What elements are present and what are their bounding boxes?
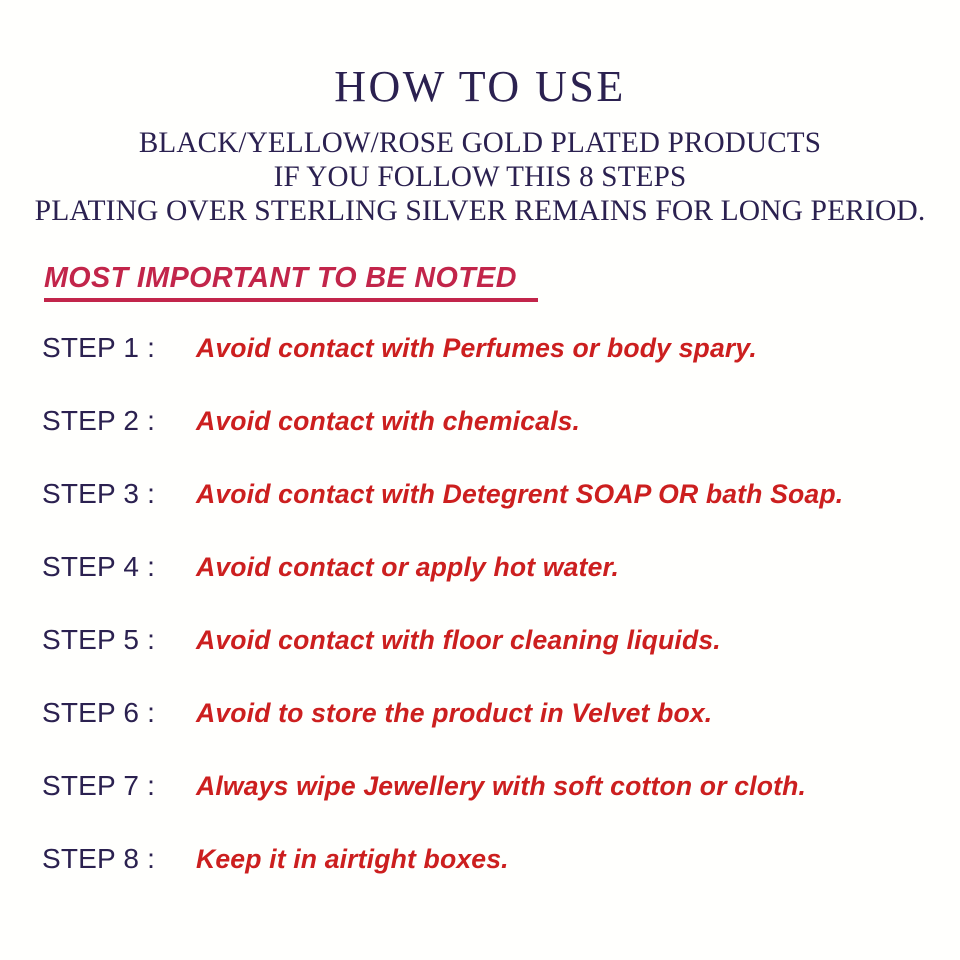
step-label: STEP 5 : [42, 622, 196, 658]
list-item: STEP 7 :Always wipe Jewellery with soft … [0, 768, 960, 841]
important-notice-heading: MOST IMPORTANT TO BE NOTED [44, 263, 604, 302]
important-notice-label: MOST IMPORTANT TO BE NOTED [44, 263, 517, 294]
step-label: STEP 6 : [42, 695, 196, 731]
step-label: STEP 7 : [42, 768, 196, 804]
step-label: STEP 1 : [42, 330, 196, 366]
step-instruction: Keep it in airtight boxes. [196, 841, 509, 877]
step-label: STEP 8 : [42, 841, 196, 877]
list-item: STEP 3 :Avoid contact with Detegrent SOA… [0, 476, 960, 549]
care-instructions-poster: HOW TO USE BLACK/YELLOW/ROSE GOLD PLATED… [0, 0, 960, 960]
subtitle-block: BLACK/YELLOW/ROSE GOLD PLATED PRODUCTS I… [0, 126, 960, 228]
subtitle-line-2: IF YOU FOLLOW THIS 8 STEPS [14, 160, 945, 194]
steps-list: STEP 1 :Avoid contact with Perfumes or b… [0, 330, 960, 914]
list-item: STEP 5 :Avoid contact with floor cleanin… [0, 622, 960, 695]
subtitle-line-3: PLATING OVER STERLING SILVER REMAINS FOR… [7, 194, 953, 228]
step-instruction: Avoid contact with floor cleaning liquid… [196, 622, 721, 658]
list-item: STEP 1 :Avoid contact with Perfumes or b… [0, 330, 960, 403]
step-instruction: Avoid contact with Perfumes or body spar… [196, 330, 757, 366]
step-instruction: Avoid contact with Detegrent SOAP OR bat… [196, 476, 843, 512]
list-item: STEP 6 :Avoid to store the product in Ve… [0, 695, 960, 768]
step-instruction: Avoid contact with chemicals. [196, 403, 580, 439]
list-item: STEP 4 :Avoid contact or apply hot water… [0, 549, 960, 622]
step-label: STEP 2 : [42, 403, 196, 439]
list-item: STEP 2 :Avoid contact with chemicals. [0, 403, 960, 476]
subtitle-line-1: BLACK/YELLOW/ROSE GOLD PLATED PRODUCTS [14, 126, 945, 160]
list-item: STEP 8 :Keep it in airtight boxes. [0, 841, 960, 914]
step-label: STEP 3 : [42, 476, 196, 512]
step-instruction: Always wipe Jewellery with soft cotton o… [196, 768, 806, 804]
step-label: STEP 4 : [42, 549, 196, 585]
step-instruction: Avoid to store the product in Velvet box… [196, 695, 712, 731]
step-instruction: Avoid contact or apply hot water. [196, 549, 619, 585]
underline-rule [44, 298, 538, 302]
page-title: HOW TO USE [0, 65, 960, 109]
